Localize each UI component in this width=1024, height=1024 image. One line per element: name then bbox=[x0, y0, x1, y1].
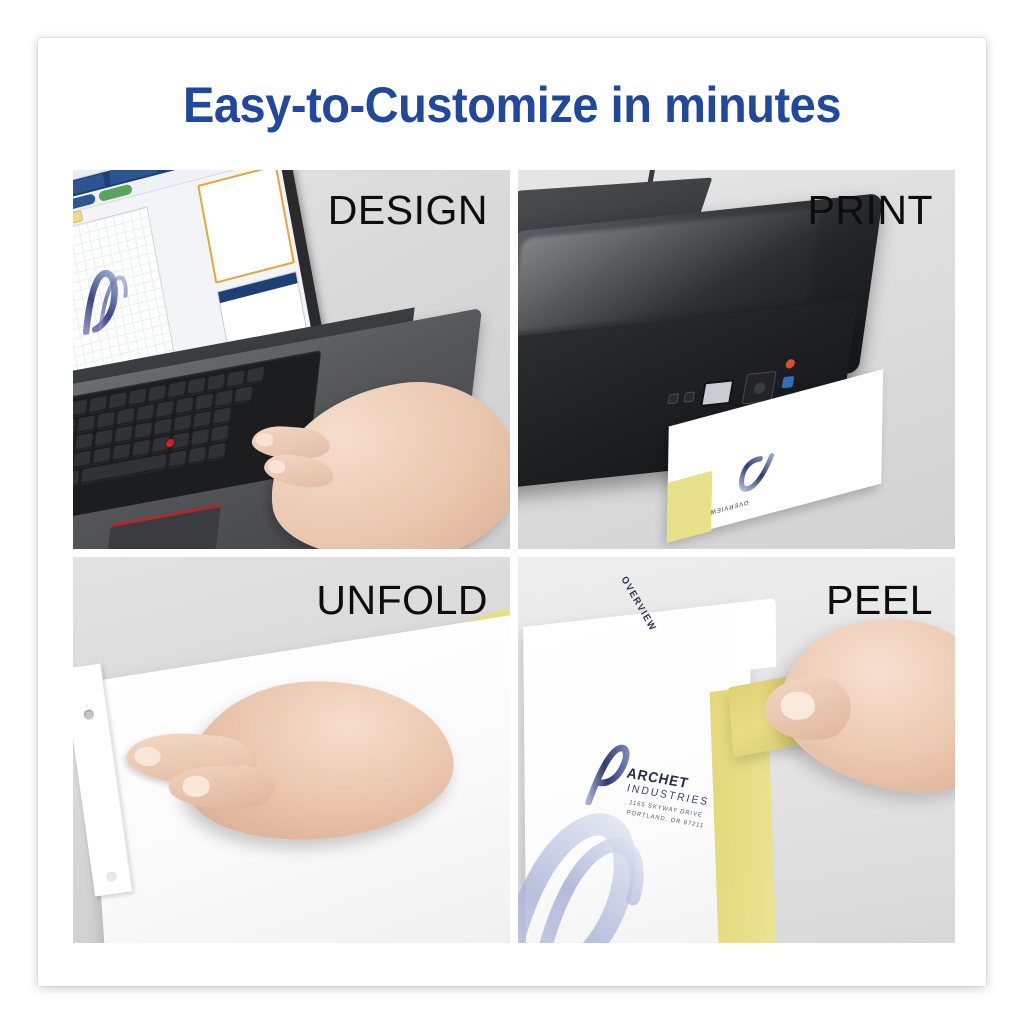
keyboard-key bbox=[168, 450, 186, 468]
panel-label-unfold: UNFOLD bbox=[316, 577, 488, 624]
settings-button-icon[interactable] bbox=[683, 391, 695, 402]
keyboard-key bbox=[168, 381, 186, 399]
keyboard-key bbox=[73, 470, 80, 488]
keyboard-key bbox=[234, 386, 252, 404]
product-infographic-card: Easy-to-Customize in minutes bbox=[38, 38, 986, 986]
keyboard-key bbox=[73, 419, 76, 437]
keyboard-key bbox=[75, 433, 93, 451]
keyboard-key bbox=[148, 385, 166, 403]
keyboard-key bbox=[114, 426, 132, 444]
keyboard-key bbox=[154, 418, 172, 436]
keyboard-key bbox=[136, 404, 154, 422]
panel-print[interactable]: OVERVIEW PRINT bbox=[518, 170, 955, 549]
keyboard-key bbox=[213, 407, 231, 425]
keyboard-key bbox=[195, 393, 213, 411]
laptop-touchpad[interactable] bbox=[104, 504, 221, 549]
divider-tab-text: OVERVIEW bbox=[619, 574, 659, 634]
step-panel-grid: DESIGN bbox=[73, 170, 955, 947]
keyboard-key bbox=[207, 374, 225, 392]
thumb bbox=[765, 678, 851, 740]
hand-peeling bbox=[768, 600, 955, 807]
panel-label-design: DESIGN bbox=[328, 187, 488, 234]
keyboard-key bbox=[175, 397, 193, 415]
keyboard-key bbox=[132, 440, 150, 458]
binder-hole-icon bbox=[83, 709, 94, 720]
keyboard-key bbox=[89, 396, 107, 414]
fingernail bbox=[134, 746, 161, 767]
archet-swoosh-icon bbox=[717, 451, 777, 500]
archet-swoosh-icon bbox=[73, 260, 145, 337]
keyboard-key bbox=[246, 367, 264, 385]
keyboard-key bbox=[97, 412, 115, 430]
thumb bbox=[169, 766, 275, 808]
printer-lcd-display bbox=[700, 379, 734, 407]
archet-watermark-swoosh-icon bbox=[518, 781, 728, 943]
keyboard-key bbox=[215, 390, 233, 408]
keyboard-key bbox=[109, 392, 127, 410]
finger bbox=[262, 450, 336, 492]
keyboard-key bbox=[128, 388, 146, 406]
panel-peel[interactable]: OVERVIEW bbox=[518, 557, 955, 943]
start-button-icon[interactable] bbox=[782, 376, 795, 388]
keyboard-key bbox=[187, 378, 205, 396]
keyboard-key bbox=[156, 401, 174, 419]
keyboard-key bbox=[112, 443, 130, 461]
keyboard-key bbox=[73, 399, 88, 417]
thumbnail bbox=[183, 776, 210, 797]
binder-hole-icon bbox=[106, 871, 117, 882]
keyboard-key bbox=[188, 447, 206, 465]
keyboard-key bbox=[208, 443, 226, 461]
keyboard-key bbox=[193, 411, 211, 429]
keyboard-key bbox=[191, 429, 209, 447]
cancel-button-icon[interactable] bbox=[785, 359, 796, 369]
keyboard-key bbox=[173, 415, 191, 433]
keyboard-key bbox=[134, 422, 152, 440]
panel-label-print: PRINT bbox=[808, 187, 934, 234]
keyboard-key bbox=[93, 447, 111, 465]
fingernail bbox=[256, 433, 274, 447]
keyboard-key bbox=[73, 451, 91, 469]
keyboard-key bbox=[95, 429, 113, 447]
divider-tab bbox=[736, 598, 776, 671]
panel-design[interactable]: DESIGN bbox=[73, 170, 510, 549]
keyboard-key bbox=[73, 437, 74, 455]
preview-panel bbox=[197, 170, 295, 284]
keyboard-key bbox=[116, 408, 134, 426]
power-button-icon[interactable] bbox=[667, 393, 679, 404]
keyboard-key bbox=[227, 370, 245, 388]
thumbnail bbox=[781, 692, 815, 720]
fingernail bbox=[267, 459, 286, 475]
keyboard-key bbox=[77, 415, 95, 433]
page-title: Easy-to-Customize in minutes bbox=[66, 76, 957, 134]
keyboard-key bbox=[211, 425, 229, 443]
sheet-yellow-strip bbox=[667, 471, 712, 543]
sheet-tab-text: OVERVIEW bbox=[710, 498, 749, 515]
panel-label-peel: PEEL bbox=[826, 577, 933, 624]
panel-unfold[interactable]: UNFOLD bbox=[73, 557, 510, 943]
